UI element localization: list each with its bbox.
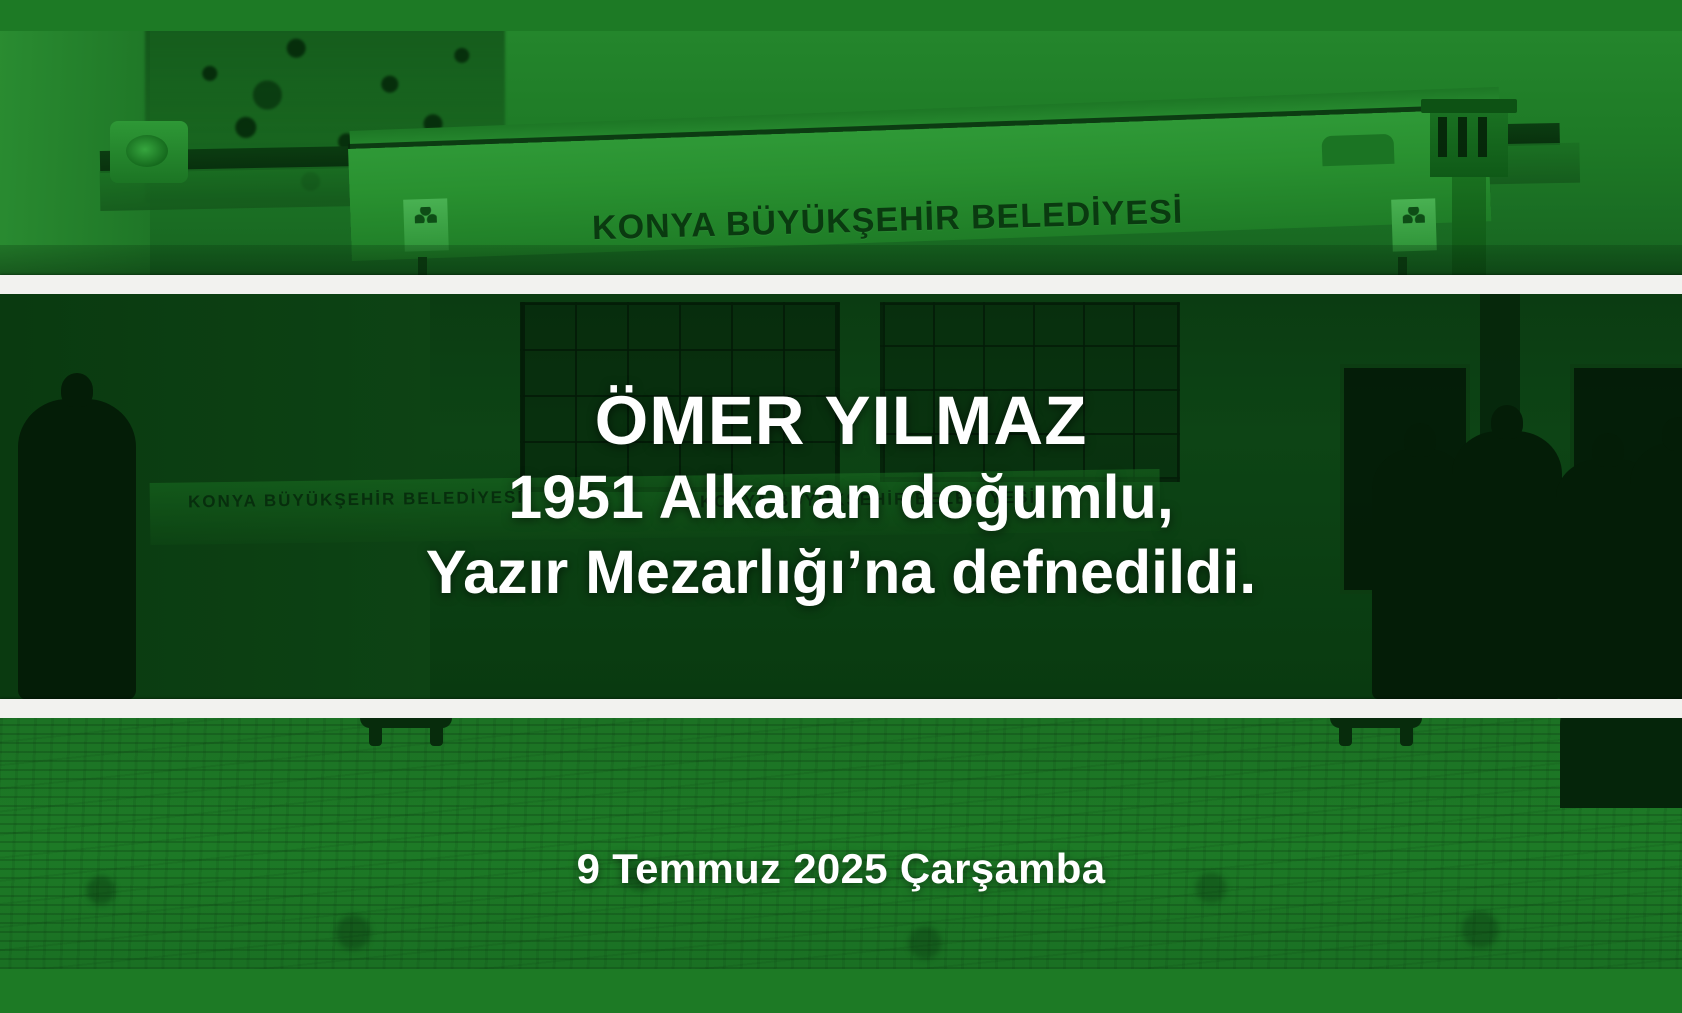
announcement-block: ÖMER YILMAZ 1951 Alkaran doğumlu, Yazır … [0,294,1682,699]
top-accent-band [0,0,1682,31]
header-ground-shadow [0,245,1682,275]
vehicle-handle [1321,134,1394,166]
divider-bottom [0,699,1682,718]
chimney-icon [1430,111,1508,177]
deceased-name: ÖMER YILMAZ [595,382,1088,459]
loudspeaker-icon [110,121,188,183]
bottom-accent-band [0,969,1682,1013]
birth-info-line: 1951 Alkaran doğumlu, [508,460,1174,536]
header-photo: KONYA BÜYÜKŞEHİR BELEDİYESİ [0,31,1682,275]
recycle-placard-icon [1391,198,1437,251]
recycle-placard-icon [403,198,449,251]
burial-info-line: Yazır Mezarlığı’na defnedildi. [426,535,1256,611]
obituary-card: KONYA BÜYÜKŞEHİR BELEDİYESİ KONYA BÜYÜKŞ… [0,0,1682,1013]
divider-top [0,275,1682,294]
announcement-date: 9 Temmuz 2025 Çarşamba [0,718,1682,969]
